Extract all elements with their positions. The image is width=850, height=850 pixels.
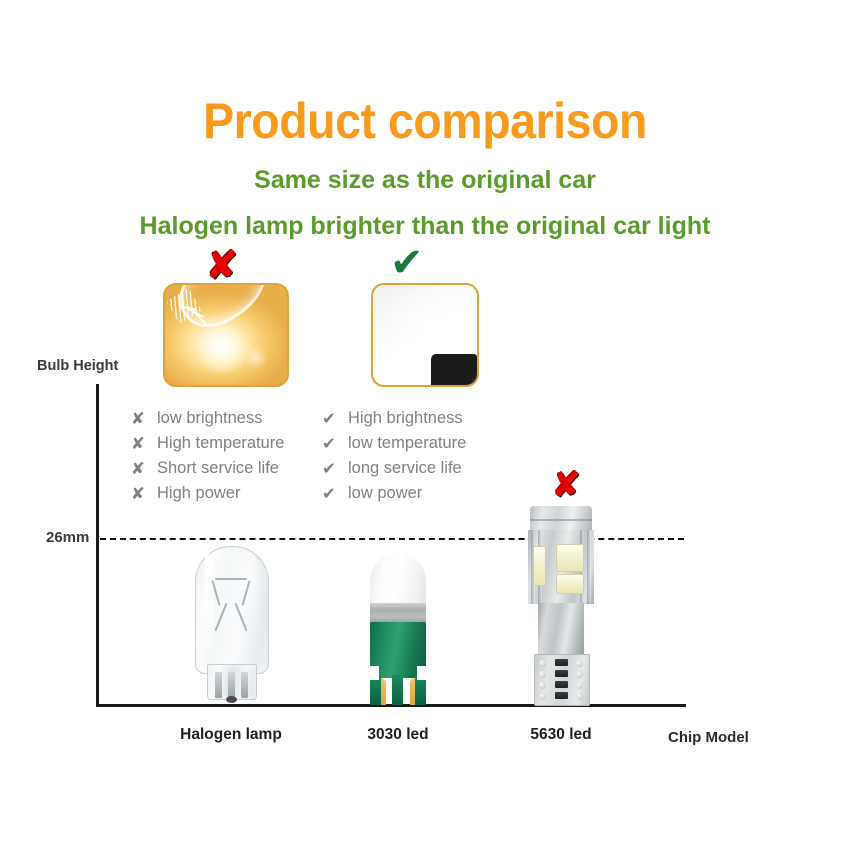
- halogen-base-tip: [226, 696, 237, 703]
- led5630-resistor: [555, 692, 568, 699]
- led5630-smd-chip-left: [533, 546, 546, 586]
- list-item: ✔ High brightness: [322, 406, 466, 431]
- led5630-smd-chip-center: [556, 544, 584, 572]
- led5630-body-shaft: [538, 603, 584, 657]
- bulb-graphic-5630-led: [520, 506, 602, 704]
- check-icon: ✔: [322, 459, 348, 479]
- list-item: ✘ low brightness: [131, 406, 284, 431]
- check-icon: ✔: [322, 434, 348, 454]
- list-item: ✘ High temperature: [131, 431, 284, 456]
- feature-label: High temperature: [157, 434, 284, 453]
- led3030-metal-band: [370, 603, 426, 623]
- check-icon: ✔: [322, 409, 348, 429]
- led5630-cap: [530, 506, 592, 532]
- list-item: ✔ low power: [322, 481, 466, 506]
- cross-icon-halogen-photo: ✘: [206, 247, 238, 285]
- led3030-notch-right: [417, 666, 426, 680]
- led5630-circuit-base: [534, 654, 590, 706]
- led5630-pad: [539, 693, 546, 700]
- led5630-pad: [576, 660, 583, 667]
- halogen-glass-highlight: [205, 554, 214, 650]
- cross-icon: ✘: [131, 434, 157, 454]
- halogen-glow-secondary: [243, 347, 269, 369]
- bulb-graphic-halogen: [185, 546, 277, 704]
- subtitle-same-size: Same size as the original car: [0, 166, 850, 195]
- led3030-diffuser-dome: [370, 553, 426, 607]
- feature-list-negative: ✘ low brightness ✘ High temperature ✘ Sh…: [131, 406, 284, 506]
- led5630-smd-chip-lower: [556, 574, 584, 594]
- infographic-root: Product comparison Same size as the orig…: [0, 0, 850, 850]
- y-axis-label: Bulb Height: [37, 358, 118, 374]
- cross-icon-5630-too-tall: ✘: [552, 468, 581, 502]
- y-axis-tick-26mm: 26mm: [46, 529, 89, 546]
- subtitle-brighter: Halogen lamp brighter than the original …: [0, 212, 850, 241]
- halogen-pin-left: [215, 672, 222, 698]
- led5630-heatsink: [528, 530, 594, 604]
- led5630-pad: [576, 693, 583, 700]
- halogen-pin-right: [241, 672, 248, 698]
- feature-label: High brightness: [348, 409, 463, 428]
- list-item: ✘ Short service life: [131, 456, 284, 481]
- led3030-notch-left: [370, 666, 379, 680]
- photo-led-bulb: [371, 283, 479, 387]
- led5630-fin-4: [587, 530, 591, 604]
- led-base-dark: [431, 354, 477, 385]
- led3030-leg-center: [392, 675, 403, 705]
- cross-icon: ✘: [131, 409, 157, 429]
- halogen-filament: [215, 580, 247, 636]
- cross-icon: ✘: [131, 484, 157, 504]
- list-item: ✔ long service life: [322, 456, 466, 481]
- feature-list-positive: ✔ High brightness ✔ low temperature ✔ lo…: [322, 406, 466, 506]
- halogen-pin-center: [228, 672, 235, 698]
- feature-label: High power: [157, 484, 240, 503]
- led5630-pad: [539, 671, 546, 678]
- list-item: ✔ low temperature: [322, 431, 466, 456]
- x-category-3030-led: 3030 led: [318, 726, 478, 744]
- x-category-halogen-lamp: Halogen lamp: [151, 726, 311, 744]
- led5630-resistor: [555, 681, 568, 688]
- halogen-glow: [195, 323, 251, 373]
- led5630-pad: [539, 660, 546, 667]
- cross-icon: ✘: [131, 459, 157, 479]
- list-item: ✘ High power: [131, 481, 284, 506]
- bulb-graphic-3030-led: [363, 553, 433, 705]
- feature-label: low temperature: [348, 434, 466, 453]
- check-icon-led-photo: ✔: [390, 243, 424, 283]
- led5630-resistor: [555, 659, 568, 666]
- photo-halogen-bulb: [163, 283, 289, 387]
- feature-label: low brightness: [157, 409, 262, 428]
- x-category-5630-led: 5630 led: [481, 726, 641, 744]
- feature-label: Short service life: [157, 459, 279, 478]
- x-axis-label: Chip Model: [668, 729, 749, 746]
- led5630-resistor: [555, 670, 568, 677]
- feature-label: low power: [348, 484, 422, 503]
- led5630-pad: [539, 682, 546, 689]
- y-axis-line: [96, 384, 99, 706]
- feature-label: long service life: [348, 459, 462, 478]
- check-icon: ✔: [322, 484, 348, 504]
- led5630-pad: [576, 671, 583, 678]
- led5630-pad: [576, 682, 583, 689]
- page-title: Product comparison: [30, 92, 821, 150]
